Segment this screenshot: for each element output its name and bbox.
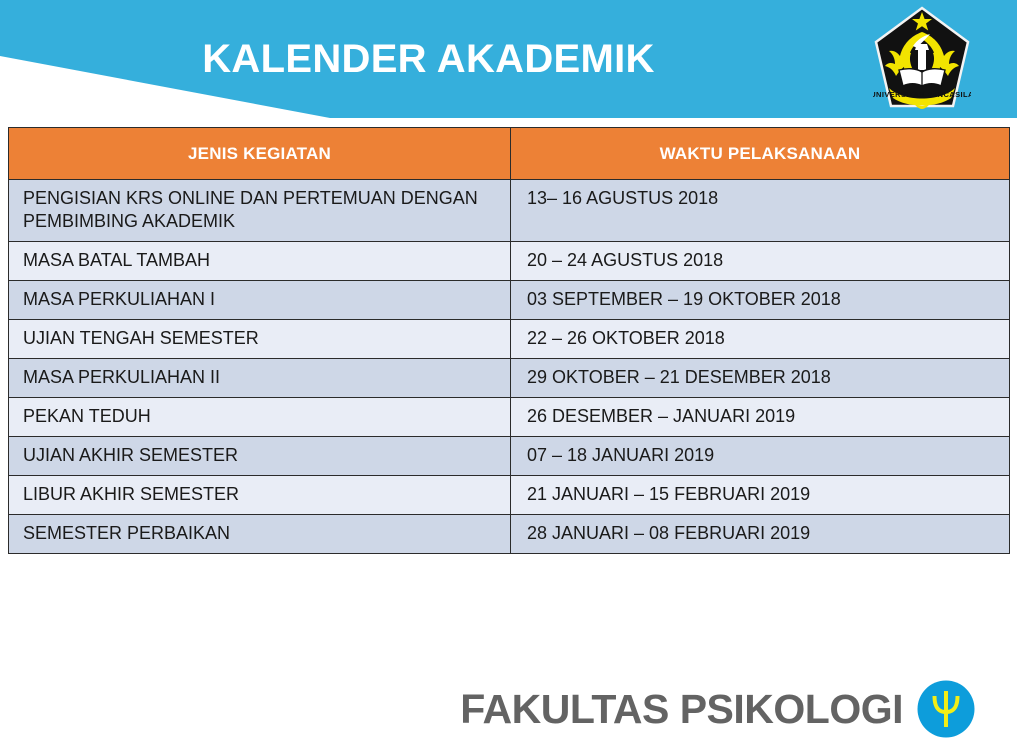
page-title: KALENDER AKADEMIK	[0, 0, 1017, 118]
table-row: SEMESTER PERBAIKAN 28 JANUARI – 08 FEBRU…	[9, 515, 1010, 554]
svg-text:UNIVERSITAS PANCASILA: UNIVERSITAS PANCASILA	[873, 90, 971, 99]
cell-activity: PENGISIAN KRS ONLINE DAN PERTEMUAN DENGA…	[9, 180, 511, 242]
slide-canvas: KALENDER AKADEMIK UNIVERSITAS PANCASILA	[0, 0, 1017, 746]
cell-time: 13– 16 AGUSTUS 2018	[511, 180, 1010, 242]
table-row: MASA BATAL TAMBAH 20 – 24 AGUSTUS 2018	[9, 242, 1010, 281]
cell-time: 26 DESEMBER – JANUARI 2019	[511, 398, 1010, 437]
table-header-row: JENIS KEGIATAN WAKTU PELAKSANAAN	[9, 128, 1010, 180]
cell-activity: MASA PERKULIAHAN I	[9, 281, 511, 320]
table-row: MASA PERKULIAHAN I 03 SEPTEMBER – 19 OKT…	[9, 281, 1010, 320]
cell-time: 20 – 24 AGUSTUS 2018	[511, 242, 1010, 281]
cell-time: 07 – 18 JANUARI 2019	[511, 437, 1010, 476]
cell-time: 28 JANUARI – 08 FEBRUARI 2019	[511, 515, 1010, 554]
cell-time: 21 JANUARI – 15 FEBRUARI 2019	[511, 476, 1010, 515]
cell-time: 03 SEPTEMBER – 19 OKTOBER 2018	[511, 281, 1010, 320]
column-header-jenis-kegiatan: JENIS KEGIATAN	[9, 128, 511, 180]
cell-activity: LIBUR AKHIR SEMESTER	[9, 476, 511, 515]
psi-symbol-icon	[917, 680, 975, 738]
cell-activity: SEMESTER PERBAIKAN	[9, 515, 511, 554]
table-row: UJIAN TENGAH SEMESTER 22 – 26 OKTOBER 20…	[9, 320, 1010, 359]
table-body: PENGISIAN KRS ONLINE DAN PERTEMUAN DENGA…	[9, 180, 1010, 554]
cell-activity: MASA PERKULIAHAN II	[9, 359, 511, 398]
table-row: LIBUR AKHIR SEMESTER 21 JANUARI – 15 FEB…	[9, 476, 1010, 515]
table-row: MASA PERKULIAHAN II 29 OKTOBER – 21 DESE…	[9, 359, 1010, 398]
cell-activity: UJIAN TENGAH SEMESTER	[9, 320, 511, 359]
cell-activity: UJIAN AKHIR SEMESTER	[9, 437, 511, 476]
footer: FAKULTAS PSIKOLOGI	[0, 672, 1017, 746]
university-pancasila-crest-icon: UNIVERSITAS PANCASILA	[873, 6, 971, 114]
academic-calendar-table: JENIS KEGIATAN WAKTU PELAKSANAAN PENGISI…	[8, 127, 1010, 554]
column-header-waktu-pelaksanaan: WAKTU PELAKSANAAN	[511, 128, 1010, 180]
cell-activity: PEKAN TEDUH	[9, 398, 511, 437]
table-row: UJIAN AKHIR SEMESTER 07 – 18 JANUARI 201…	[9, 437, 1010, 476]
cell-time: 29 OKTOBER – 21 DESEMBER 2018	[511, 359, 1010, 398]
table-row: PENGISIAN KRS ONLINE DAN PERTEMUAN DENGA…	[9, 180, 1010, 242]
faculty-name: FAKULTAS PSIKOLOGI	[460, 686, 903, 733]
header-banner: KALENDER AKADEMIK	[0, 0, 1017, 118]
cell-time: 22 – 26 OKTOBER 2018	[511, 320, 1010, 359]
table-row: PEKAN TEDUH 26 DESEMBER – JANUARI 2019	[9, 398, 1010, 437]
cell-activity: MASA BATAL TAMBAH	[9, 242, 511, 281]
